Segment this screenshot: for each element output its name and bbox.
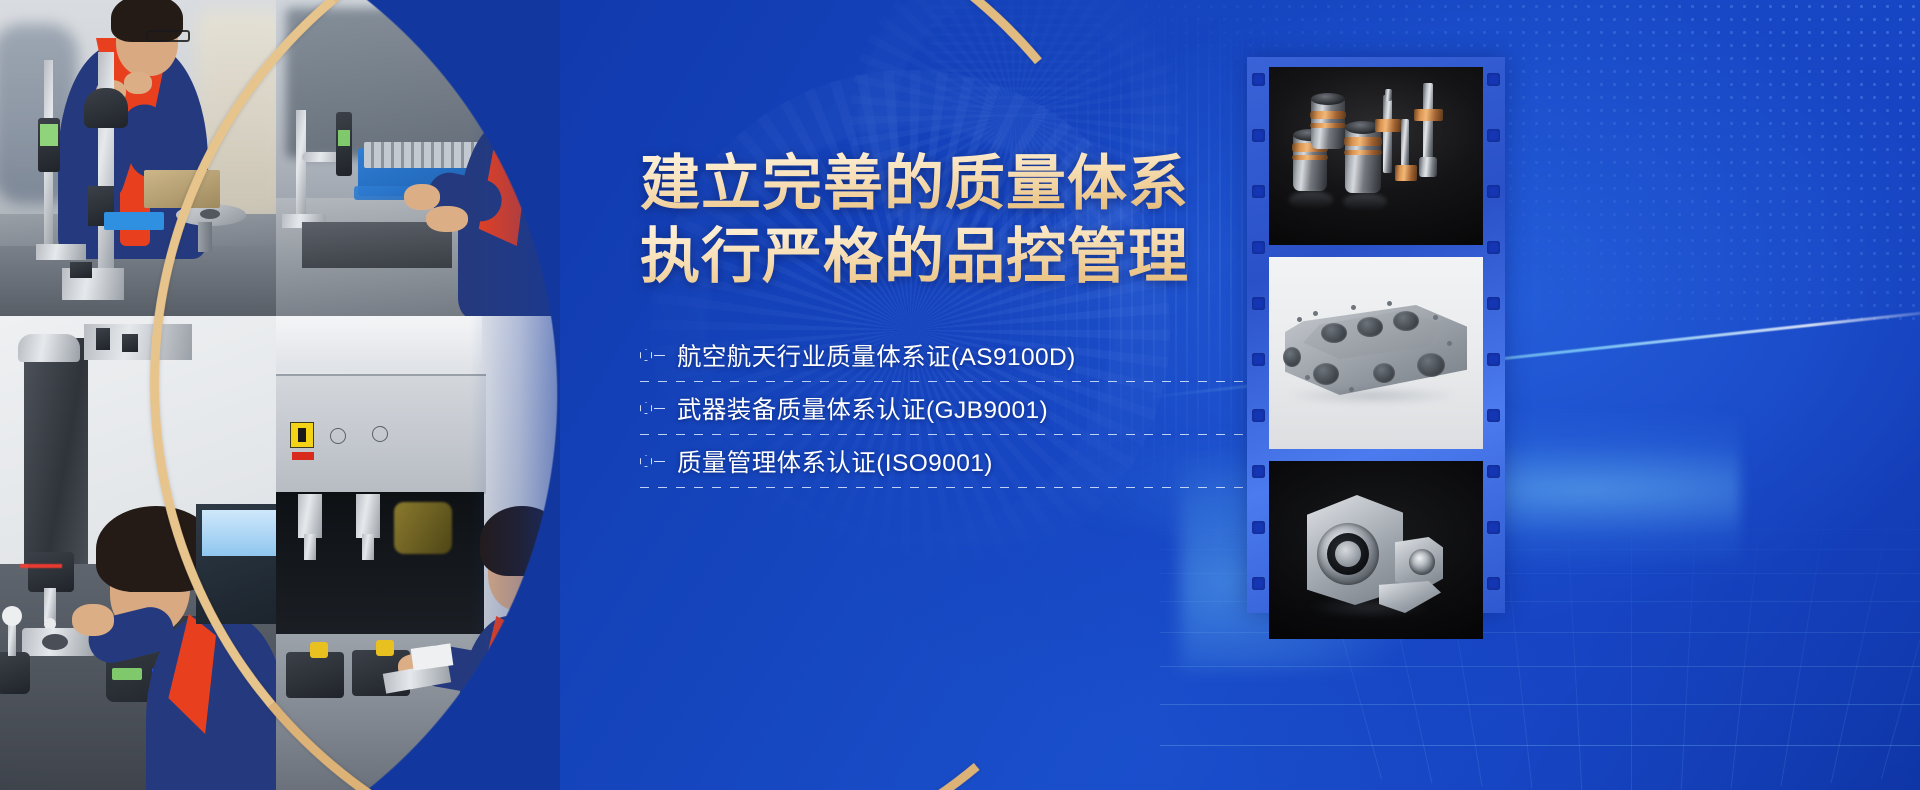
certification-label: 航空航天行业质量体系证(AS9100D) xyxy=(677,338,1076,373)
filmstrip-perforation xyxy=(1252,73,1265,86)
certification-row[interactable]: 航空航天行业质量体系证(AS9100D) xyxy=(640,329,1200,382)
certification-list: 航空航天行业质量体系证(AS9100D)武器装备质量体系认证(GJB9001)质… xyxy=(640,329,1200,488)
grid-line-vertical xyxy=(1565,490,1582,790)
filmstrip-perforation xyxy=(1252,521,1265,534)
product-photo-filmstrip xyxy=(1247,57,1505,613)
grid-line-horizontal xyxy=(1160,745,1920,746)
certification-label: 质量管理体系认证(ISO9001) xyxy=(677,444,993,479)
hexagon-bullet-icon xyxy=(640,454,666,468)
headline-line-2: 执行严格的品控管理 xyxy=(640,221,1200,292)
hexagon-bullet-icon xyxy=(640,401,666,415)
grid-line-horizontal xyxy=(1160,666,1920,667)
filmstrip-perforation xyxy=(1487,465,1500,478)
filmstrip-perforation xyxy=(1252,129,1265,142)
filmstrip-perforation xyxy=(1487,241,1500,254)
filmstrip-perforation xyxy=(1252,241,1265,254)
hexagon-bullet-icon xyxy=(640,348,666,362)
photo-cnc-machine-operator xyxy=(276,316,560,790)
grid-line-vertical xyxy=(1681,490,1698,790)
filmstrip-perforation xyxy=(1487,185,1500,198)
product-photo-aluminum-housing xyxy=(1269,257,1483,449)
grid-line-vertical xyxy=(1631,490,1632,790)
grid-line-vertical xyxy=(1731,490,1764,788)
filmstrip-frames xyxy=(1269,67,1483,603)
grid-line-vertical xyxy=(1781,490,1830,786)
filmstrip-perforation xyxy=(1487,577,1500,590)
headline-line-1: 建立完善的质量体系 xyxy=(640,148,1200,219)
product-photo-precision-bushings xyxy=(1269,67,1483,245)
filmstrip-perforation xyxy=(1487,297,1500,310)
filmstrip-perforation xyxy=(1252,353,1265,366)
filmstrip-perforation xyxy=(1487,521,1500,534)
photo-inspector-height-gauge xyxy=(0,0,276,316)
filmstrip-perforation xyxy=(1252,465,1265,478)
certification-row[interactable]: 武器装备质量体系认证(GJB9001) xyxy=(640,382,1200,435)
spindle-shape xyxy=(930,0,1100,120)
certification-row[interactable]: 质量管理体系认证(ISO9001) xyxy=(640,435,1200,488)
filmstrip-perforation xyxy=(1487,73,1500,86)
certification-label: 武器装备质量体系认证(GJB9001) xyxy=(677,391,1048,426)
filmstrip-perforation xyxy=(1252,577,1265,590)
quality-system-banner: 建立完善的质量体系 执行严格的品控管理 航空航天行业质量体系证(AS9100D)… xyxy=(0,0,1920,790)
filmstrip-perforation xyxy=(1487,129,1500,142)
filmstrip-perforation xyxy=(1252,409,1265,422)
grid-line-vertical xyxy=(1831,490,1896,783)
photo-collage xyxy=(0,0,560,790)
photo-cmm-operator xyxy=(0,316,276,790)
grid-line-vertical xyxy=(1881,490,1920,779)
headline-block: 建立完善的质量体系 执行严格的品控管理 航空航天行业质量体系证(AS9100D)… xyxy=(640,148,1200,488)
filmstrip-perforation xyxy=(1487,409,1500,422)
dashed-divider xyxy=(640,487,1262,488)
filmstrip-perforation xyxy=(1487,353,1500,366)
filmstrip-perforation xyxy=(1252,297,1265,310)
filmstrip-perforation xyxy=(1252,185,1265,198)
grid-line-horizontal xyxy=(1160,704,1920,705)
photo-technician-measuring-parts xyxy=(276,0,560,316)
product-photo-machined-block xyxy=(1269,461,1483,639)
